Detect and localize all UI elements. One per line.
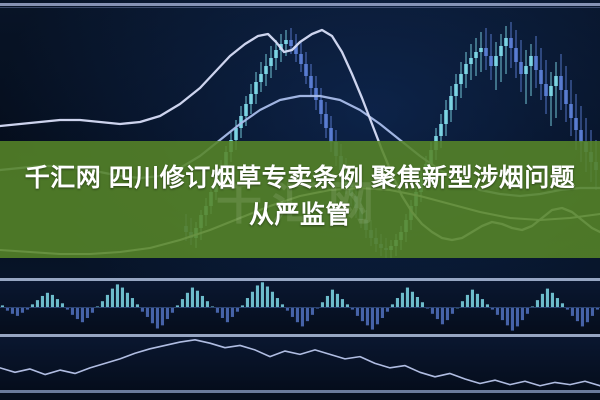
macd-bar	[521, 308, 524, 321]
macd-bar	[141, 308, 144, 312]
macd-bar	[186, 293, 189, 308]
candle-body	[234, 128, 238, 140]
macd-bar	[396, 298, 399, 307]
candle-body	[329, 128, 333, 142]
macd-bar	[431, 308, 434, 314]
macd-bar	[236, 308, 239, 312]
macd-bar	[256, 285, 259, 307]
macd-bar	[416, 297, 419, 308]
candle-body	[544, 84, 548, 96]
macd-bar	[506, 308, 509, 326]
candle-body	[439, 124, 443, 136]
macd-bar	[571, 308, 574, 316]
macd-bar	[336, 294, 339, 308]
macd-bar	[296, 308, 299, 323]
macd-bar	[56, 299, 59, 307]
macd-bar	[551, 293, 554, 308]
macd-bar	[221, 308, 224, 319]
candle-body	[464, 64, 468, 74]
macd-bar	[81, 308, 84, 323]
macd-bar	[146, 308, 149, 317]
macd-bar	[21, 308, 24, 313]
macd-bar	[401, 293, 404, 308]
macd-bar	[326, 296, 329, 308]
candle-body	[269, 58, 273, 66]
candle-body	[504, 38, 508, 46]
macd-bar	[451, 308, 454, 314]
candle-body	[309, 76, 313, 88]
candle-body	[479, 48, 483, 52]
macd-bar	[196, 291, 199, 308]
macd-bar	[511, 308, 514, 331]
candle-body	[259, 74, 263, 82]
macd-bar	[201, 296, 204, 308]
macd-bar	[466, 295, 469, 308]
macd-bar	[581, 308, 584, 327]
macd-bar	[411, 292, 414, 308]
macd-bar	[86, 308, 89, 319]
candle-body	[304, 64, 308, 76]
macd-bar	[276, 298, 279, 307]
macd-bar	[441, 308, 444, 325]
macd-bar	[101, 301, 104, 307]
candle-body	[249, 94, 253, 104]
macd-bar	[91, 308, 94, 313]
macd-bar	[41, 296, 44, 308]
candle-body	[519, 62, 523, 74]
candle-body	[299, 54, 303, 64]
macd-bar	[421, 302, 424, 307]
macd-bar	[61, 303, 64, 307]
macd-bar	[151, 308, 154, 324]
macd-bar	[271, 292, 274, 308]
macd-bar	[226, 308, 229, 323]
macd-bar	[116, 284, 119, 307]
macd-bar	[436, 308, 439, 320]
macd-bar	[361, 308, 364, 322]
candle-body	[444, 110, 448, 124]
image-canvas: 千汇网 千汇网 四川修订烟草专卖条例 聚焦新型涉烟问题 从严监管	[0, 0, 600, 400]
candle-body	[529, 56, 533, 66]
candle-body	[334, 142, 338, 156]
candle-body	[559, 76, 563, 90]
macd-bar	[341, 299, 344, 307]
candle-body	[579, 130, 583, 142]
headline-line-2: 从严监管	[0, 197, 600, 234]
macd-bar	[406, 288, 409, 308]
macd-bar	[261, 282, 264, 307]
macd-bar	[366, 308, 369, 326]
macd-bar	[181, 299, 184, 307]
headline-line-1: 千汇网 四川修订烟草专卖条例 聚焦新型涉烟问题	[0, 160, 600, 197]
macd-bar	[496, 308, 499, 315]
candle-body	[539, 70, 543, 84]
macd-bar	[121, 288, 124, 308]
macd-bar	[231, 308, 234, 317]
macd-bar	[541, 294, 544, 308]
candle-body	[274, 50, 278, 58]
candle-body	[389, 246, 393, 250]
macd-bar	[371, 308, 374, 330]
macd-bar	[586, 308, 589, 323]
macd-bar	[561, 303, 564, 307]
candle-body	[489, 56, 493, 66]
headline: 千汇网 四川修订烟草专卖条例 聚焦新型涉烟问题 从严监管	[0, 160, 600, 234]
candle-body	[394, 240, 398, 246]
candle-body	[379, 244, 383, 248]
candle-body	[469, 58, 473, 64]
macd-bar	[46, 293, 49, 308]
candle-body	[229, 140, 233, 152]
macd-bar	[131, 298, 134, 307]
candle-body	[454, 84, 458, 96]
macd-bar	[251, 292, 254, 308]
candle-body	[314, 88, 318, 100]
candle-body	[324, 114, 328, 128]
candle-body	[244, 104, 248, 116]
macd-bar	[461, 301, 464, 307]
macd-bar	[266, 287, 269, 308]
candle-body	[574, 118, 578, 130]
candle-body	[434, 136, 438, 150]
macd-bar	[501, 308, 504, 321]
macd-bar	[476, 294, 479, 308]
macd-bar	[16, 308, 19, 316]
macd-bar	[246, 298, 249, 307]
candle-body	[284, 40, 288, 44]
macd-bar	[311, 308, 314, 315]
macd-bar	[331, 290, 334, 308]
candle-body	[449, 96, 453, 110]
candle-body	[524, 66, 528, 74]
candle-body	[484, 48, 488, 56]
macd-bar	[376, 308, 379, 325]
macd-bar	[171, 308, 174, 313]
macd-bar	[576, 308, 579, 322]
macd-bar	[591, 308, 594, 316]
candle-body	[384, 248, 388, 250]
macd-bar	[381, 308, 384, 319]
candle-body	[514, 48, 518, 62]
macd-bar	[106, 295, 109, 308]
macd-bar	[526, 308, 529, 314]
macd-bar	[166, 308, 169, 320]
candle-body	[459, 74, 463, 84]
macd-bar	[556, 298, 559, 307]
candle-body	[494, 56, 498, 66]
candle-body	[499, 46, 503, 56]
macd-bar	[306, 308, 309, 322]
candle-body	[569, 104, 573, 118]
indicator-panel-bg	[0, 337, 600, 390]
candle-body	[474, 52, 478, 58]
candle-body	[254, 82, 258, 94]
macd-bar	[191, 288, 194, 308]
macd-bar	[51, 295, 54, 308]
macd-bar	[11, 308, 14, 314]
macd-bar	[471, 290, 474, 308]
macd-bar	[546, 289, 549, 308]
macd-bar	[446, 308, 449, 321]
macd-bar	[216, 308, 219, 313]
macd-bar	[36, 300, 39, 307]
macd-bar	[536, 300, 539, 307]
candle-body	[264, 66, 268, 74]
macd-bar	[156, 308, 159, 329]
candle-body	[584, 142, 588, 152]
macd-bar	[161, 308, 164, 326]
candle-body	[564, 90, 568, 104]
macd-bar	[481, 299, 484, 307]
macd-bar	[76, 308, 79, 320]
macd-bar	[386, 308, 389, 312]
macd-bar	[291, 308, 294, 317]
macd-bar	[516, 308, 519, 327]
candle-body	[374, 238, 378, 244]
macd-bar	[301, 308, 304, 327]
candle-body	[554, 76, 558, 86]
candle-body	[534, 56, 538, 70]
macd-bar	[126, 293, 129, 308]
macd-bar	[206, 301, 209, 307]
macd-bar	[111, 289, 114, 308]
macd-bar	[356, 308, 359, 316]
candle-body	[549, 86, 553, 96]
candle-body	[319, 100, 323, 114]
candle-body	[289, 40, 293, 46]
candle-body	[509, 38, 513, 48]
macd-bar	[71, 308, 74, 315]
macd-bar	[321, 302, 324, 307]
